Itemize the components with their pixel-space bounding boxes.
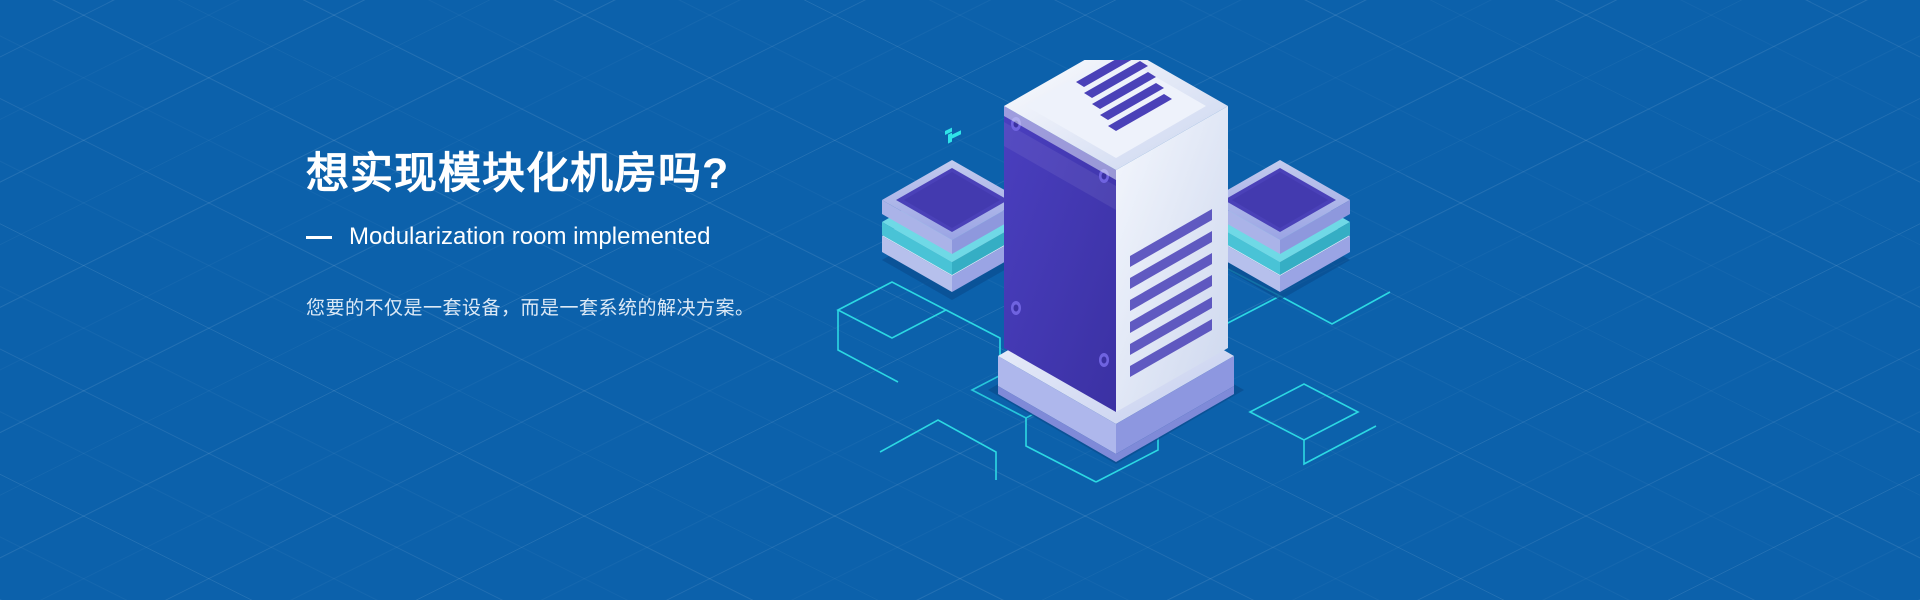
chip-logo-icon: [945, 128, 961, 144]
dash-icon: [306, 236, 332, 239]
subtitle: Modularization room implemented: [349, 223, 711, 252]
server-tower: [988, 60, 1244, 464]
chip-module-left: [882, 128, 1022, 300]
chip-module-right: [1210, 60, 1350, 300]
isometric-data-center-illustration: [820, 60, 1440, 540]
hero-banner: 想实现模块化机房吗? Modularization room implement…: [0, 0, 1920, 600]
